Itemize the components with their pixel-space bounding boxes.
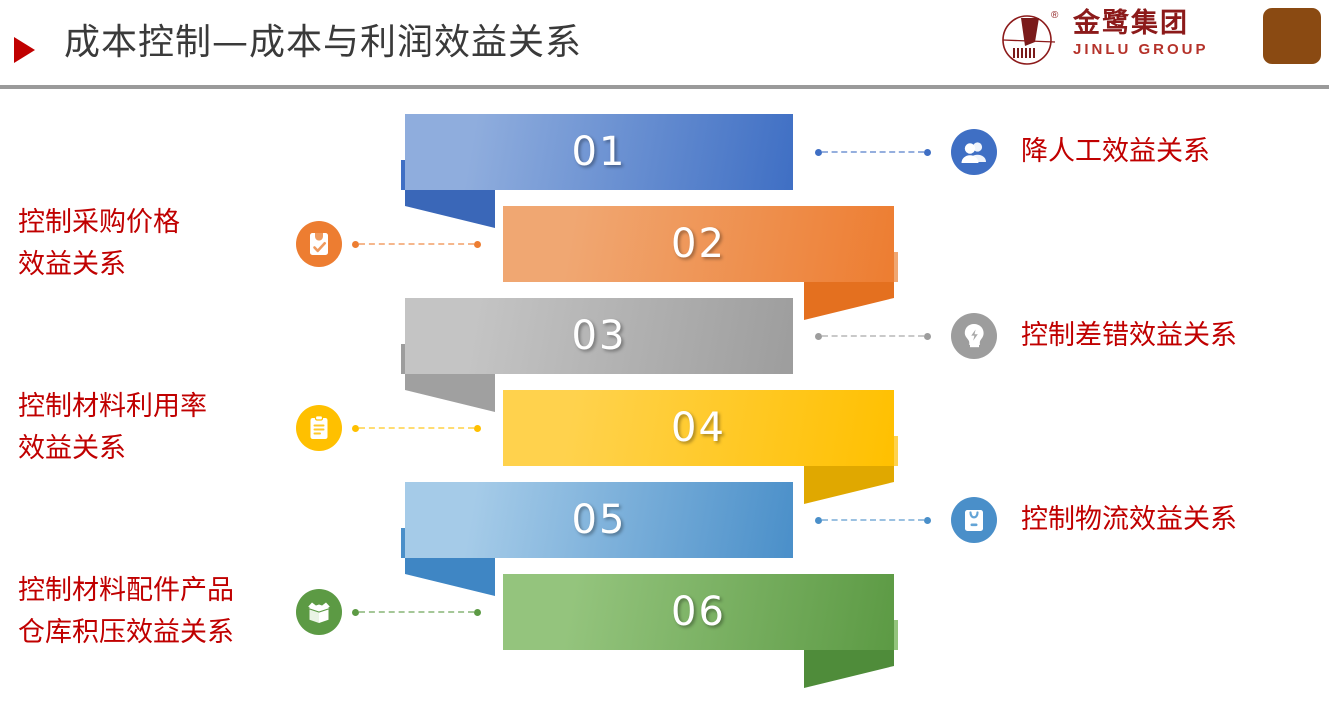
caption-line: 控制采购价格: [18, 202, 180, 244]
connector-dot: [352, 425, 359, 432]
ribbon-number: 01: [405, 114, 793, 190]
caption-line: 仓库积压效益关系: [18, 612, 234, 654]
ribbon-edge-tab: [894, 620, 898, 650]
connector-dot: [924, 149, 931, 156]
connector-line: [352, 574, 481, 650]
ribbon-caption: 控制采购价格效益关系: [18, 206, 180, 282]
ribbon-edge-tab: [894, 436, 898, 466]
caption-line: 效益关系: [18, 428, 126, 470]
ribbon-caption: 降人工效益关系: [1021, 114, 1210, 190]
ribbon-banner-06[interactable]: 06: [503, 574, 894, 650]
connector-dash: [359, 427, 474, 429]
connector-line: [815, 114, 931, 190]
connector-dash: [359, 611, 474, 613]
ribbon-banner-04[interactable]: 04: [503, 390, 894, 466]
logo-name-cn: 金鹭集团: [1073, 9, 1189, 39]
company-logo: ® 金鹭集团 JINLU GROUP: [999, 8, 1239, 70]
connector-dash: [822, 519, 924, 521]
ribbon-diagram: 01 降人工效益关系02 控制采购价格效益关系03 控制差错效益关系04 控制: [0, 86, 1329, 701]
connector-dot: [352, 241, 359, 248]
caption-line: 控制差错效益关系: [1021, 316, 1237, 356]
ribbon-fold: [804, 650, 894, 688]
connector-dot: [474, 609, 481, 616]
ribbon-row: 06 控制材料配件产品仓库积压效益关系: [0, 574, 1329, 686]
connector-line: [815, 482, 931, 558]
caption-line: 降人工效益关系: [1021, 132, 1210, 172]
connector-dot: [815, 333, 822, 340]
ribbon-caption: 控制材料配件产品仓库积压效益关系: [18, 574, 234, 650]
slide-header: 成本控制—成本与利润效益关系 ® 金鹭集团 JINLU GROUP: [0, 0, 1329, 86]
caption-line: 控制材料利用率: [18, 386, 207, 428]
connector-dot: [352, 609, 359, 616]
ribbon-number: 05: [405, 482, 793, 558]
connector-dot: [924, 517, 931, 524]
ribbon-number: 06: [503, 574, 894, 650]
caption-line: 控制物流效益关系: [1021, 500, 1237, 540]
ribbon-number: 04: [503, 390, 894, 466]
ribbon-number: 02: [503, 206, 894, 282]
corner-color-chip: [1263, 8, 1321, 64]
page-title: 成本控制—成本与利润效益关系: [64, 21, 582, 65]
ribbon-banner-02[interactable]: 02: [503, 206, 894, 282]
registered-trademark-icon: ®: [1051, 10, 1058, 21]
connector-dash: [359, 243, 474, 245]
connector-dash: [822, 151, 924, 153]
users-icon[interactable]: [951, 129, 997, 175]
logo-name-en: JINLU GROUP: [1073, 41, 1209, 58]
connector-dot: [924, 333, 931, 340]
caption-line: 控制材料配件产品: [18, 570, 234, 612]
connector-line: [352, 206, 481, 282]
ribbon-edge-tab: [894, 252, 898, 282]
ribbon-banner-03[interactable]: 03: [405, 298, 793, 374]
idea-head-icon[interactable]: [951, 313, 997, 359]
ribbon-number: 03: [405, 298, 793, 374]
caption-line: 效益关系: [18, 244, 126, 286]
clipboard-note-icon[interactable]: [296, 405, 342, 451]
clipboard-check-icon[interactable]: [296, 221, 342, 267]
connector-dash: [822, 335, 924, 337]
connector-line: [815, 298, 931, 374]
open-box-icon[interactable]: [296, 589, 342, 635]
ribbon-banner-01[interactable]: 01: [405, 114, 793, 190]
connector-dot: [474, 241, 481, 248]
connector-dot: [815, 149, 822, 156]
ribbon-caption: 控制物流效益关系: [1021, 482, 1237, 558]
triangle-right-icon: [14, 37, 35, 63]
connector-dot: [474, 425, 481, 432]
connector-dot: [815, 517, 822, 524]
connector-line: [352, 390, 481, 466]
bag-icon[interactable]: [951, 497, 997, 543]
ribbon-banner-05[interactable]: 05: [405, 482, 793, 558]
ribbon-caption: 控制差错效益关系: [1021, 298, 1237, 374]
ribbon-caption: 控制材料利用率效益关系: [18, 390, 207, 466]
